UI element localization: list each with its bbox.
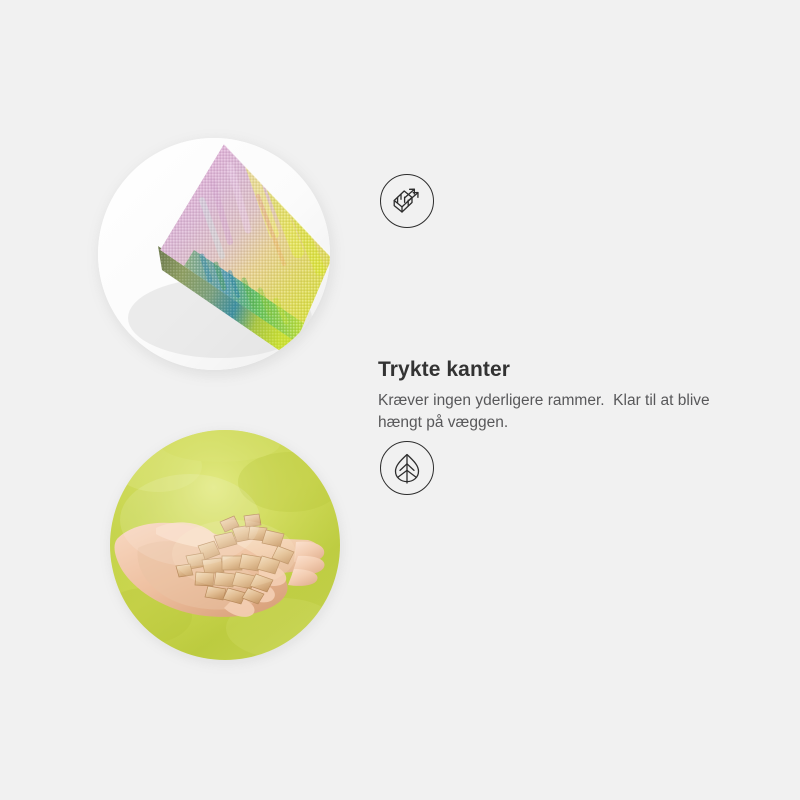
feature-eco-product: ØKO produkt Vi arbejder med materialer o… xyxy=(0,410,800,690)
product-features-page: Trykte kanter Kræver ingen yderligere ra… xyxy=(0,0,800,800)
feature-title: Trykte kanter xyxy=(378,358,510,382)
canvas-corner-photo xyxy=(98,138,330,370)
feature-printed-edges: Trykte kanter Kræver ingen yderligere ra… xyxy=(0,120,800,400)
leaf-icon xyxy=(380,441,434,495)
canvas-printed-edge-icon xyxy=(380,174,434,228)
hands-holding-wood-chips-photo xyxy=(110,430,340,660)
